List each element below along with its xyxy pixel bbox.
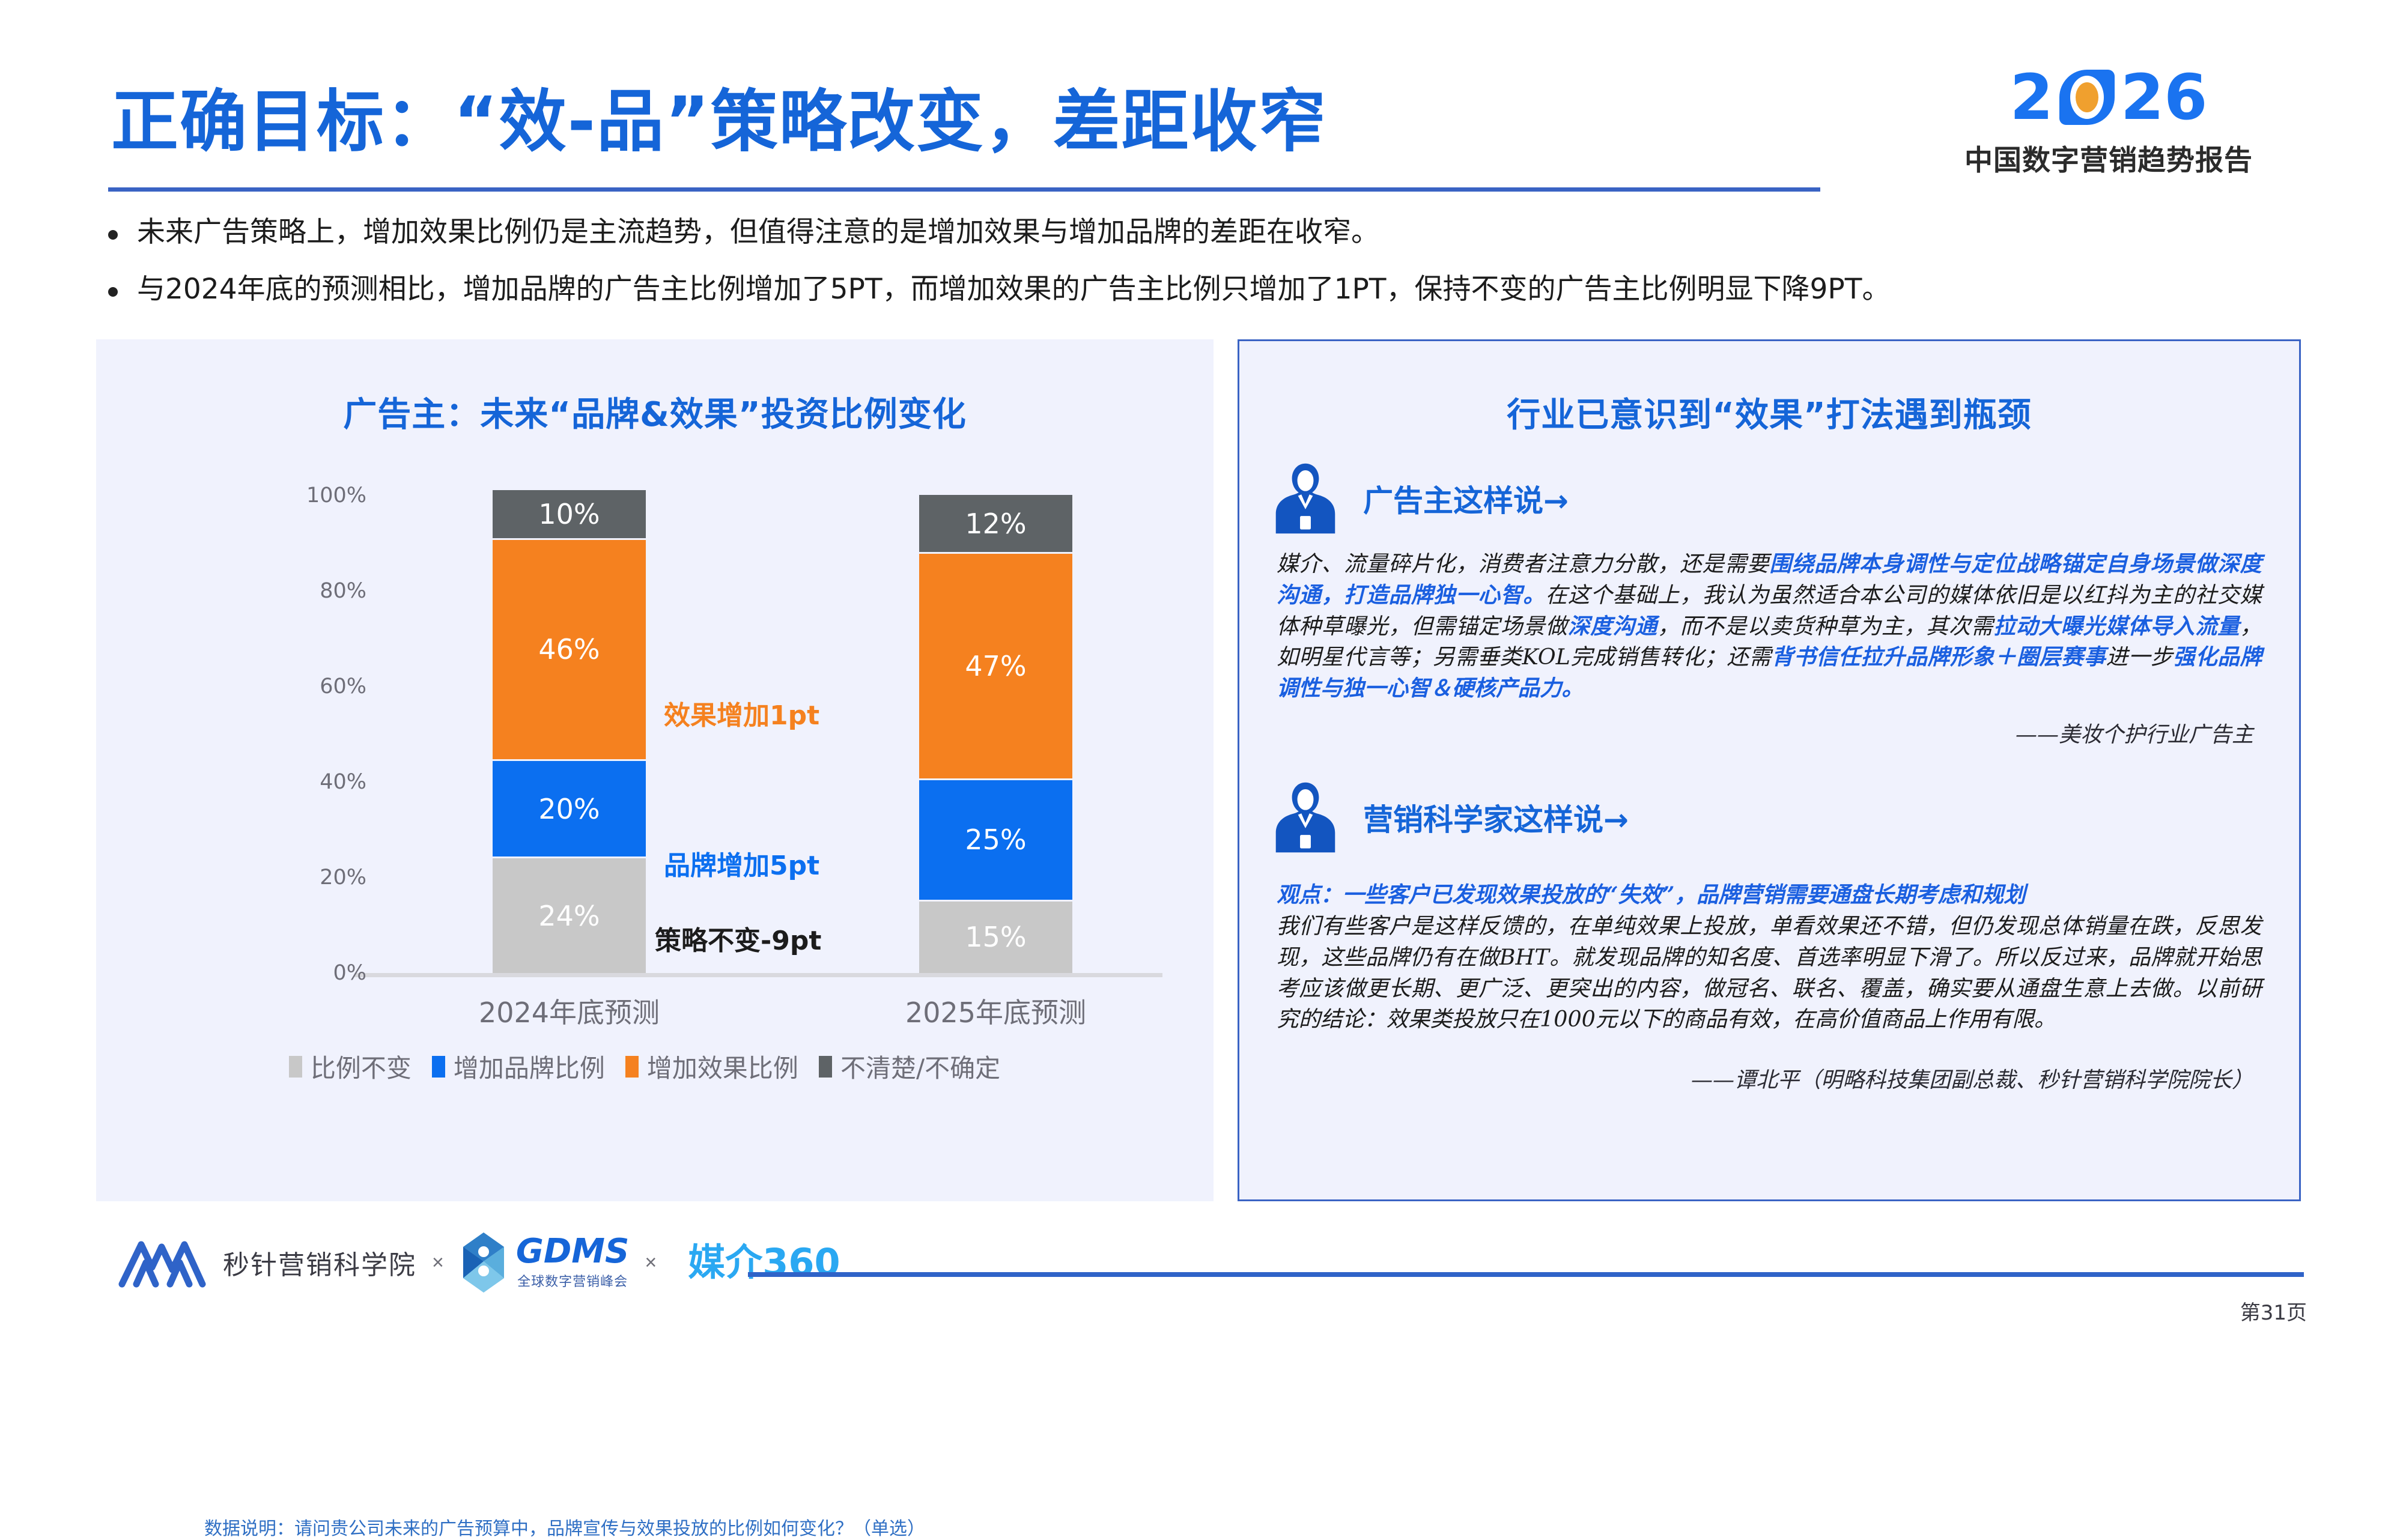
logo-subtitle: 中国数字营销趋势报告 xyxy=(1916,137,2301,178)
legend-swatch xyxy=(432,1056,445,1078)
bullet-item: 与2024年底的预测相比，增加品牌的广告主比例增加了5PT，而增加效果的广告主比… xyxy=(108,270,2331,308)
chart-footnote: 数据说明：请问贵公司未来的广告预算中，品牌宣传与效果投放的比例如何变化？（单选） xyxy=(204,1514,925,1540)
bar-segment-label: 15% xyxy=(965,921,1026,953)
bar-segment-label: 10% xyxy=(538,498,600,530)
quotes-panel-title: 行业已意识到“效果”打法遇到瓶颈 xyxy=(1239,388,2299,437)
page-title: 正确目标：“效-品”策略改变，差距收窄 xyxy=(111,67,1327,165)
footer-rule xyxy=(748,1272,2304,1277)
quote-body-scientist: 观点：一些客户已发现效果投放的“失效”，品牌营销需要通盘长期考虑和规划 我们有些… xyxy=(1277,879,2262,1035)
quotes-panel: 行业已意识到“效果”打法遇到瓶颈 广告主这样说→ 媒介、流量碎片化，消费者注意力… xyxy=(1238,339,2301,1201)
logo-digit-2: 2 xyxy=(2010,66,2053,129)
logo-separator-2: × xyxy=(645,1251,657,1275)
legend-swatch xyxy=(625,1056,639,1078)
legend-label: 比例不变 xyxy=(311,1048,412,1085)
bar-segment[interactable]: 25% xyxy=(919,780,1072,902)
bar-segment-label: 47% xyxy=(965,650,1026,682)
chart-annotation: 品牌增加5pt xyxy=(664,844,819,882)
chart-annotation: 策略不变-9pt xyxy=(655,919,821,957)
partner-logo-label-miaozhen: 秒针营销科学院 xyxy=(223,1243,416,1282)
bar-segment-label: 24% xyxy=(538,900,600,932)
quote-speaker-label: 营销科学家这样说→ xyxy=(1363,796,1629,839)
legend-label: 不清楚/不确定 xyxy=(840,1048,1000,1085)
bullet-dot-icon xyxy=(108,230,118,240)
quote-attribution-advertiser: ——美妆个护行业广告主 xyxy=(1239,717,2253,748)
logo-2026-icon: 2 26 xyxy=(1916,66,2301,129)
y-axis-tick: 40% xyxy=(210,770,366,794)
x-axis-line xyxy=(354,973,1162,977)
y-axis-tick: 0% xyxy=(210,961,366,985)
legend-item[interactable]: 比例不变 xyxy=(289,1048,412,1085)
slide-footer: 秒针营销科学院 × GDMS 全球数字营销峰会 × 媒介360 第31页 xyxy=(0,1219,2403,1351)
logo-digits-26: 26 xyxy=(2121,66,2208,129)
bullet-text: 未来广告策略上，增加效果比例仍是主流趋势，但值得注意的是增加效果与增加品牌的差距… xyxy=(137,213,1379,251)
stacked-bar[interactable]: 12%47%25%15% xyxy=(919,495,1072,973)
stacked-bar[interactable]: 10%46%20%24% xyxy=(493,490,646,973)
chart-annotation: 效果增加1pt xyxy=(664,694,819,732)
bar-segment-label: 20% xyxy=(538,793,600,825)
bar-segment[interactable]: 20% xyxy=(493,761,646,858)
page-number: 第31页 xyxy=(2240,1296,2307,1326)
gdms-logo-main: GDMS xyxy=(516,1235,630,1269)
bar-segment[interactable]: 46% xyxy=(493,540,646,762)
y-axis-tick: 60% xyxy=(210,675,366,699)
legend-item[interactable]: 不清楚/不确定 xyxy=(819,1048,1000,1085)
bullet-item: 未来广告策略上，增加效果比例仍是主流趋势，但值得注意的是增加效果与增加品牌的差距… xyxy=(108,213,2331,251)
chart-panel-title: 广告主：未来“品牌&效果”投资比例变化 xyxy=(96,387,1214,436)
bullet-dot-icon xyxy=(108,287,118,297)
legend-swatch xyxy=(819,1056,832,1078)
bar-segment-label: 46% xyxy=(538,633,600,665)
x-axis-category-label: 2025年底预测 xyxy=(870,991,1122,1031)
logo-eye-zero-icon xyxy=(2056,66,2118,129)
y-axis-tick: 20% xyxy=(210,865,366,890)
bar-segment[interactable]: 15% xyxy=(919,902,1072,973)
y-axis-tick: 100% xyxy=(210,484,366,508)
gdms-logo-sub: 全球数字营销峰会 xyxy=(517,1271,628,1290)
stacked-bar-chart: 100%80%60%40%20%0% 10%46%20%24%2024年底预测1… xyxy=(96,462,1214,1123)
report-logo: 2 26 中国数字营销趋势报告 xyxy=(1916,66,2301,178)
logo-separator-1: × xyxy=(432,1251,444,1275)
bullet-text: 与2024年底的预测相比，增加品牌的广告主比例增加了5PT，而增加效果的广告主比… xyxy=(137,270,1890,308)
y-axis-tick: 80% xyxy=(210,579,366,603)
x-axis-category-label: 2024年底预测 xyxy=(443,991,696,1031)
quote-header-scientist: 营销科学家这样说→ xyxy=(1239,780,2299,855)
bar-segment[interactable]: 24% xyxy=(493,858,646,973)
quote-speaker-label: 广告主这样说→ xyxy=(1363,477,1569,520)
title-underline-rule xyxy=(108,187,1820,192)
partner-logos: 秒针营销科学院 × GDMS 全球数字营销峰会 × 媒介360 xyxy=(117,1231,840,1294)
quote-attribution-scientist: ——谭北平（明略科技集团副总裁、秒针营销科学院院长） xyxy=(1239,1063,2253,1094)
bullet-list: 未来广告策略上，增加效果比例仍是主流趋势，但值得注意的是增加效果与增加品牌的差距… xyxy=(108,213,2331,328)
legend-label: 增加效果比例 xyxy=(647,1048,798,1085)
quote-lead-line: 观点：一些客户已发现效果投放的“失效”，品牌营销需要通盘长期考虑和规划 xyxy=(1277,882,2026,908)
chart-legend: 比例不变增加品牌比例增加效果比例不清楚/不确定 xyxy=(96,1048,1214,1085)
person-icon xyxy=(1272,780,1339,855)
gdms-diamond-logo-icon xyxy=(460,1231,508,1294)
bar-segment[interactable]: 12% xyxy=(919,495,1072,554)
miaozhen-wave-logo-icon xyxy=(117,1234,207,1291)
quote-body-text: 我们有些客户是这样反馈的，在单纯效果上投放，单看效果还不错，但仍发现总体销量在跌… xyxy=(1277,913,2262,1032)
legend-label: 增加品牌比例 xyxy=(454,1048,605,1085)
quote-body-advertiser: 媒介、流量碎片化，消费者注意力分散，还是需要围绕品牌本身调性与定位战略锚定自身场… xyxy=(1277,548,2262,704)
legend-item[interactable]: 增加效果比例 xyxy=(625,1048,798,1085)
legend-swatch xyxy=(289,1056,302,1078)
chart-panel: 广告主：未来“品牌&效果”投资比例变化 100%80%60%40%20%0% 1… xyxy=(96,339,1214,1201)
slide-header: 正确目标：“效-品”策略改变，差距收窄 2 26 中国数字营销趋势报告 xyxy=(0,0,2403,198)
bar-segment[interactable]: 47% xyxy=(919,554,1072,780)
legend-item[interactable]: 增加品牌比例 xyxy=(432,1048,605,1085)
bar-segment-label: 12% xyxy=(965,508,1026,540)
quote-header-advertiser: 广告主这样说→ xyxy=(1239,461,2299,536)
gdms-logo-text: GDMS 全球数字营销峰会 xyxy=(516,1235,630,1290)
person-icon xyxy=(1272,461,1339,536)
bar-segment-label: 25% xyxy=(965,823,1026,856)
bar-segment[interactable]: 10% xyxy=(493,490,646,540)
